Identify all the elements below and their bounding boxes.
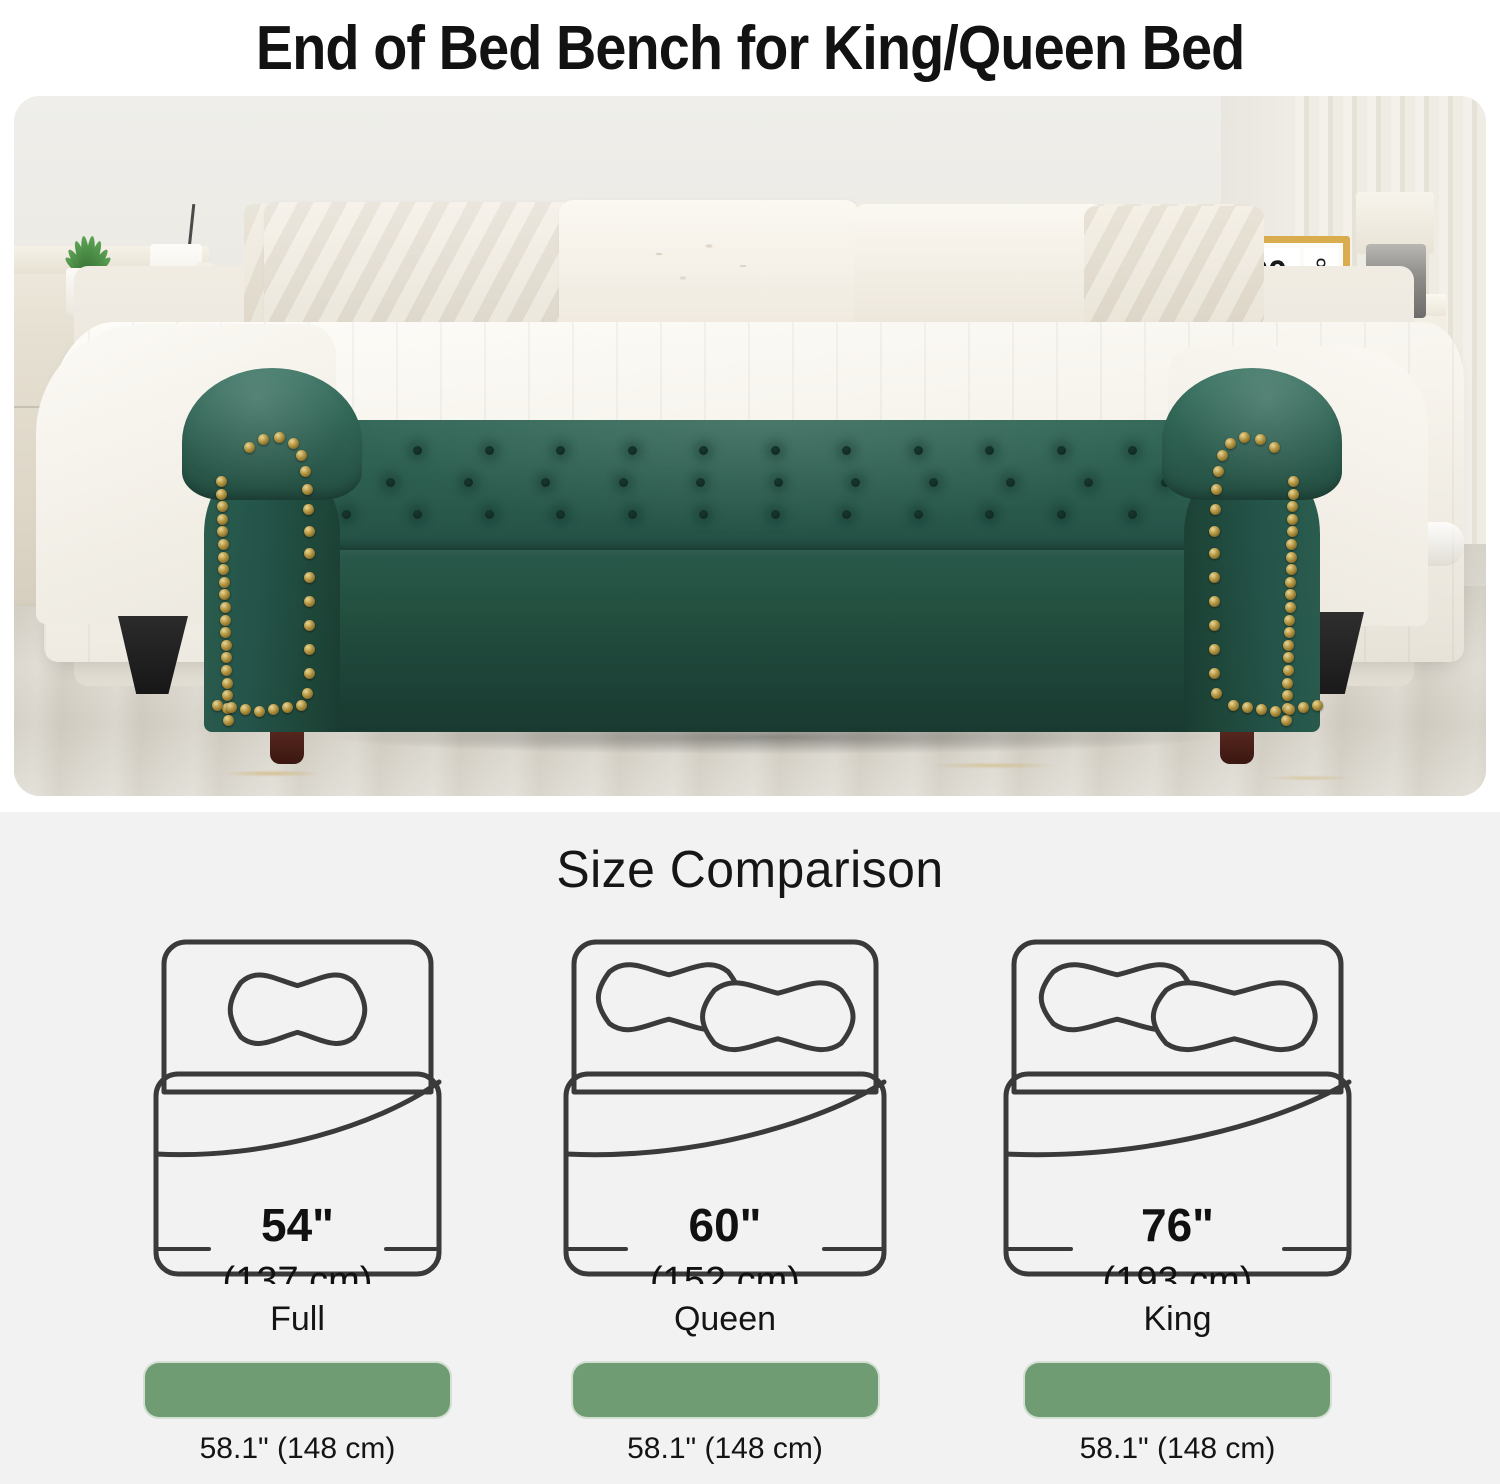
nailhead-trim bbox=[1284, 615, 1295, 626]
arm-post bbox=[1184, 464, 1320, 732]
tufting-button bbox=[985, 446, 994, 455]
nailhead-trim bbox=[274, 432, 285, 443]
pillow-embroidered bbox=[559, 200, 859, 334]
nailhead-trim bbox=[220, 615, 231, 626]
nailhead-trim bbox=[1211, 688, 1222, 699]
nailhead-trim bbox=[1217, 450, 1228, 461]
bed-size-label: Full bbox=[270, 1300, 325, 1339]
bench-width-bar bbox=[1025, 1363, 1330, 1417]
bench-width-label: 58.1" (148 cm) bbox=[627, 1432, 823, 1466]
nailhead-trim bbox=[1213, 466, 1224, 477]
size-comparison-title: Size Comparison bbox=[30, 812, 1470, 900]
nailhead-trim bbox=[254, 706, 265, 717]
tufting-button bbox=[914, 510, 923, 519]
nailhead-trim bbox=[218, 552, 229, 563]
nailhead-trim bbox=[1242, 702, 1253, 713]
bench-width-bar bbox=[145, 1363, 450, 1417]
pillow-shape bbox=[1153, 983, 1315, 1050]
tufting-button bbox=[413, 446, 422, 455]
tufting-button bbox=[556, 446, 565, 455]
nailhead-trim bbox=[217, 514, 228, 525]
nailhead-trim bbox=[218, 539, 229, 550]
nailhead-trim bbox=[240, 704, 251, 715]
nailhead-trim bbox=[1209, 668, 1220, 679]
bed-width-cm: (152 cm) bbox=[650, 1260, 800, 1284]
tufting-button bbox=[485, 510, 494, 519]
nailhead-trim bbox=[1225, 438, 1236, 449]
tufting-button bbox=[1006, 478, 1015, 487]
product-photo: 20 OCT bbox=[14, 96, 1486, 796]
tufting-button bbox=[1128, 510, 1137, 519]
tufting-button bbox=[1057, 446, 1066, 455]
pillow bbox=[264, 202, 574, 334]
nailhead-trim bbox=[296, 450, 307, 461]
page-title: End of Bed Bench for King/Queen Bed bbox=[256, 13, 1244, 84]
nailhead-trim bbox=[220, 602, 231, 613]
bed-figure: 54"(137 cm) bbox=[150, 934, 445, 1284]
nailhead-trim bbox=[268, 704, 279, 715]
tufting-button bbox=[485, 446, 494, 455]
tufting-button bbox=[699, 510, 708, 519]
tufting-button bbox=[985, 510, 994, 519]
bed-outline-diagram: 54"(137 cm) bbox=[150, 934, 445, 1284]
nailhead-trim bbox=[216, 489, 227, 500]
tufting-button bbox=[851, 478, 860, 487]
nailhead-trim bbox=[217, 501, 228, 512]
tufting-button bbox=[628, 510, 637, 519]
nailhead-trim bbox=[1285, 602, 1296, 613]
nailhead-trim bbox=[1270, 706, 1281, 717]
nailhead-trim bbox=[221, 640, 232, 651]
nailhead-trim bbox=[304, 668, 315, 679]
bed-width-cm: (137 cm) bbox=[223, 1260, 373, 1284]
tufting-button bbox=[842, 446, 851, 455]
nailhead-trim bbox=[1211, 484, 1222, 495]
size-column-queen: 60"(152 cm)Queen58.1" (148 cm) bbox=[560, 934, 890, 1466]
tufting-button bbox=[413, 510, 422, 519]
pillow bbox=[1084, 206, 1264, 328]
nailhead-trim bbox=[1209, 596, 1220, 607]
nailhead-trim bbox=[300, 466, 311, 477]
bed-figure: 76"(193 cm) bbox=[1000, 934, 1355, 1284]
nailhead-trim bbox=[1298, 702, 1309, 713]
rolled-arm bbox=[182, 368, 362, 500]
nailhead-trim bbox=[304, 526, 315, 537]
nailhead-trim bbox=[1287, 514, 1298, 525]
bedroom-scene: 20 OCT bbox=[14, 96, 1486, 796]
nailhead-trim bbox=[212, 700, 223, 711]
nailhead-trim bbox=[1255, 434, 1266, 445]
nailhead-trim bbox=[219, 577, 230, 588]
nailhead-trim bbox=[244, 442, 255, 453]
nailhead-trim bbox=[1287, 526, 1298, 537]
nailhead-trim bbox=[1209, 572, 1220, 583]
tufting-button bbox=[619, 478, 628, 487]
nailhead-trim bbox=[226, 702, 237, 713]
bed-outline-diagram: 60"(152 cm) bbox=[560, 934, 890, 1284]
tufting-button bbox=[696, 478, 705, 487]
nailhead-trim bbox=[1288, 476, 1299, 487]
nailhead-trim bbox=[304, 572, 315, 583]
size-column-king: 76"(193 cm)King58.1" (148 cm) bbox=[1000, 934, 1355, 1466]
bed-width-cm: (193 cm) bbox=[1103, 1260, 1253, 1284]
bed-size-label: King bbox=[1143, 1300, 1211, 1339]
pillow-shape bbox=[230, 975, 365, 1044]
nailhead-trim bbox=[304, 644, 315, 655]
tufting-button bbox=[914, 446, 923, 455]
bench-arm-left bbox=[182, 368, 362, 732]
bed-outline-diagram: 76"(193 cm) bbox=[1000, 934, 1355, 1284]
nailhead-trim bbox=[1256, 704, 1267, 715]
pillow-shape bbox=[703, 983, 853, 1050]
nailhead-trim bbox=[288, 438, 299, 449]
bed-width-inches: 60" bbox=[689, 1199, 762, 1251]
size-comparison-section: Size Comparison 54"(137 cm)Full58.1" (14… bbox=[0, 812, 1500, 1484]
tufting-button bbox=[699, 446, 708, 455]
bench-width-label: 58.1" (148 cm) bbox=[1080, 1432, 1276, 1466]
nailhead-trim bbox=[304, 548, 315, 559]
nailhead-trim bbox=[302, 688, 313, 699]
size-comparison-columns: 54"(137 cm)Full58.1" (148 cm)60"(152 cm)… bbox=[0, 934, 1500, 1466]
storage-bench bbox=[182, 368, 1342, 788]
nailhead-trim bbox=[1209, 644, 1220, 655]
nailhead-trim bbox=[1283, 665, 1294, 676]
rolled-arm bbox=[1162, 368, 1342, 500]
size-column-full: 54"(137 cm)Full58.1" (148 cm) bbox=[145, 934, 450, 1466]
tufting-button bbox=[842, 510, 851, 519]
bench-arm-right bbox=[1162, 368, 1342, 732]
nailhead-trim bbox=[1286, 564, 1297, 575]
bench-width-bar bbox=[573, 1363, 878, 1417]
nailhead-trim bbox=[216, 476, 227, 487]
tufting-button bbox=[1057, 510, 1066, 519]
tufting-button bbox=[774, 478, 783, 487]
nailhead-trim bbox=[1285, 577, 1296, 588]
tufting-button bbox=[771, 446, 780, 455]
tufting-button bbox=[464, 478, 473, 487]
bench-front-panel bbox=[300, 542, 1230, 732]
bench-tufted-seat bbox=[300, 420, 1230, 550]
page-header: End of Bed Bench for King/Queen Bed bbox=[0, 0, 1500, 96]
nailhead-trim bbox=[282, 702, 293, 713]
bed-size-label: Queen bbox=[674, 1300, 776, 1339]
nailhead-trim bbox=[304, 596, 315, 607]
nailhead-trim bbox=[223, 715, 234, 726]
pillow bbox=[854, 204, 1104, 330]
nailhead-trim bbox=[1228, 700, 1239, 711]
nailhead-trim bbox=[1239, 432, 1250, 443]
nailhead-trim bbox=[222, 678, 233, 689]
tufting-button bbox=[386, 478, 395, 487]
nailhead-trim bbox=[304, 620, 315, 631]
nailhead-trim bbox=[1288, 489, 1299, 500]
tufting-button bbox=[628, 446, 637, 455]
nailhead-trim bbox=[1282, 678, 1293, 689]
nailhead-trim bbox=[1210, 504, 1221, 515]
nailhead-trim bbox=[302, 484, 313, 495]
nailhead-trim bbox=[1284, 704, 1295, 715]
nailhead-trim bbox=[1209, 526, 1220, 537]
tufting-button bbox=[929, 478, 938, 487]
nailhead-trim bbox=[1312, 700, 1323, 711]
bed-figure: 60"(152 cm) bbox=[560, 934, 890, 1284]
tufting-button bbox=[541, 478, 550, 487]
nailhead-trim bbox=[1269, 442, 1280, 453]
nailhead-trim bbox=[296, 700, 307, 711]
tufting-button bbox=[556, 510, 565, 519]
bed-head-area bbox=[164, 942, 431, 1092]
bed-width-inches: 76" bbox=[1141, 1199, 1214, 1251]
bed-width-inches: 54" bbox=[261, 1199, 334, 1251]
nailhead-trim bbox=[258, 434, 269, 445]
nailhead-trim bbox=[1209, 548, 1220, 559]
bench-width-label: 58.1" (148 cm) bbox=[200, 1432, 396, 1466]
tufting-button bbox=[1128, 446, 1137, 455]
nailhead-trim bbox=[1284, 627, 1295, 638]
nailhead-trim bbox=[1209, 620, 1220, 631]
nailhead-trim bbox=[1286, 552, 1297, 563]
nailhead-trim bbox=[303, 504, 314, 515]
tufting-button bbox=[771, 510, 780, 519]
tufting-button bbox=[1084, 478, 1093, 487]
